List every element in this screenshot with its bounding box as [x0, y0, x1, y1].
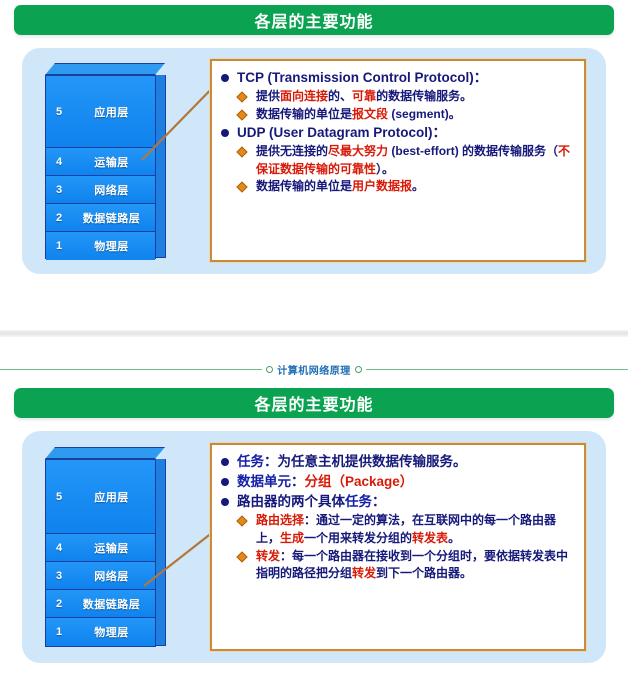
text-run: 可靠 — [352, 89, 376, 103]
layer-number: 1 — [46, 626, 72, 638]
layer-number: 3 — [46, 184, 72, 196]
layer-row-2[interactable]: 2 数据链路层 — [46, 590, 155, 618]
section-2-bullet-list: 任务：为任意主机提供数据传输服务。 数据单元：分组（Package） 路由器的两… — [220, 452, 574, 583]
sub-bullet-tcp-1: 提供面向连接的、可靠的数据传输服务。 — [236, 88, 574, 106]
section-1-content-box: TCP (Transmission Control Protocol)： 提供面… — [210, 59, 586, 262]
bullet-text: UDP (User Datagram Protocol)： — [237, 125, 446, 140]
text-run: TCP (Transmission Control Protocol)： — [237, 70, 487, 85]
text-run: 数据单元 — [237, 474, 291, 489]
text-run: 任务 — [237, 454, 264, 469]
stack-front-face: 5 应用层 4 运输层 3 网络层 2 数据链路层 1 物理层 — [45, 75, 156, 259]
stack-side-face — [155, 75, 166, 258]
text-run: 报文段 — [352, 107, 388, 121]
text-run: ）。 — [376, 162, 394, 176]
layer-number: 5 — [46, 106, 72, 118]
bullet-dot-icon — [221, 498, 229, 506]
text-run: 的、 — [328, 89, 352, 103]
text-run: 任务 — [345, 494, 372, 509]
text-run: 一个用来转发分组的 — [304, 531, 412, 545]
section-1-title: 各层的主要功能 — [254, 8, 373, 32]
text-run: 。 — [448, 531, 460, 545]
text-run: 数据传输的单位是 — [256, 107, 352, 121]
text-run: 路由选择 — [256, 513, 304, 527]
sub-bullet-forwarding: 转发：每一个路由器在接收到一个分组时，要依据转发表中指明的路径把分组转发到下一个… — [236, 548, 574, 583]
sub-bullet-text: 数据传输的单位是报文段 (segment)。 — [256, 107, 461, 121]
layer-number: 4 — [46, 156, 72, 168]
layer-row-5[interactable]: 5 应用层 — [46, 460, 155, 534]
section-2-panel: 5 应用层 4 运输层 3 网络层 2 数据链路层 1 物理层 — [22, 431, 606, 663]
text-run: ： — [372, 494, 386, 509]
bullet-data-unit: 数据单元：分组（Package） — [220, 472, 574, 491]
section-1-banner: 各层的主要功能 — [14, 5, 614, 35]
layer-row-2[interactable]: 2 数据链路层 — [46, 204, 155, 232]
stack-top-face — [45, 63, 165, 75]
stack-top-face — [45, 447, 165, 459]
text-run: ：为任意主机提供数据传输服务。 — [264, 454, 467, 469]
layer-label: 网络层 — [72, 182, 155, 198]
text-run: 用户数据报 — [352, 179, 412, 193]
text-run: UDP (User Datagram Protocol)： — [237, 125, 446, 140]
layer-label: 网络层 — [72, 568, 155, 584]
bullet-task: 任务：为任意主机提供数据传输服务。 — [220, 452, 574, 471]
text-run: 转发 — [352, 566, 376, 580]
section-1-panel: 5 应用层 4 运输层 3 网络层 2 数据链路层 1 物理层 — [22, 48, 606, 274]
layer-row-3[interactable]: 3 网络层 — [46, 176, 155, 204]
layer-row-3[interactable]: 3 网络层 — [46, 562, 155, 590]
sub-bullet-text: 提供无连接的尽最大努力 (best-effort) 的数据传输服务（不保证数据传… — [256, 144, 570, 176]
bullet-text: 任务：为任意主机提供数据传输服务。 — [237, 454, 467, 469]
layer-number: 5 — [46, 491, 72, 503]
text-run: 路由器的两个具体 — [237, 494, 345, 509]
text-run: 生成 — [280, 531, 304, 545]
layer-number: 2 — [46, 212, 72, 224]
layer-label: 数据链路层 — [72, 210, 155, 226]
section-2-banner: 各层的主要功能 — [14, 388, 614, 418]
sub-bullet-tcp-2: 数据传输的单位是报文段 (segment)。 — [236, 106, 574, 124]
sub-bullet-text: 数据传输的单位是用户数据报。 — [256, 179, 424, 193]
sub-bullet-text: 提供面向连接的、可靠的数据传输服务。 — [256, 89, 472, 103]
stack-front-face: 5 应用层 4 运输层 3 网络层 2 数据链路层 1 物理层 — [45, 459, 156, 647]
text-run: 。 — [412, 179, 424, 193]
layer-row-1[interactable]: 1 物理层 — [46, 618, 155, 646]
text-run: 的数据传输服务。 — [376, 89, 472, 103]
text-run: ： — [291, 474, 305, 489]
divider-circle-left-icon — [266, 366, 273, 373]
divider: 计算机网络原理 — [0, 361, 628, 377]
divider-circle-right-icon — [355, 366, 362, 373]
text-run: 转发表 — [412, 531, 448, 545]
diamond-bullet-icon — [236, 147, 247, 158]
text-run: 面向连接 — [280, 89, 328, 103]
divider-rule-left — [0, 369, 262, 370]
bullet-router-tasks: 路由器的两个具体任务： — [220, 492, 574, 511]
diamond-bullet-icon — [236, 109, 247, 120]
slide-page: 各层的主要功能 5 应用层 4 运输层 3 网络层 2 — [0, 0, 628, 676]
text-run: 提供无连接的 — [256, 144, 328, 158]
text-run: 转发 — [256, 549, 280, 563]
layer-label: 运输层 — [72, 540, 155, 556]
layer-row-1[interactable]: 1 物理层 — [46, 232, 155, 260]
section-2-content-box: 任务：为任意主机提供数据传输服务。 数据单元：分组（Package） 路由器的两… — [210, 443, 586, 651]
layer-label: 应用层 — [72, 104, 155, 120]
divider-rule-right — [366, 369, 628, 370]
layer-number: 2 — [46, 598, 72, 610]
stack-side-face — [155, 459, 166, 646]
bullet-dot-icon — [221, 458, 229, 466]
diamond-bullet-icon — [236, 182, 247, 193]
bullet-dot-icon — [221, 129, 229, 137]
bullet-tcp: TCP (Transmission Control Protocol)： — [220, 68, 574, 87]
divider-label: 计算机网络原理 — [277, 362, 351, 377]
layer-label: 数据链路层 — [72, 596, 155, 612]
text-run: (segment)。 — [388, 107, 461, 121]
text-run: 尽最大努力 — [328, 144, 388, 158]
section-1-bullet-list: TCP (Transmission Control Protocol)： 提供面… — [220, 68, 574, 196]
text-run: (best-effort) 的数据传输服务（ — [388, 144, 558, 158]
layer-number: 3 — [46, 570, 72, 582]
bullet-text: 路由器的两个具体任务： — [237, 494, 386, 509]
layer-label: 运输层 — [72, 154, 155, 170]
diamond-bullet-icon — [236, 516, 247, 527]
sub-bullet-udp-2: 数据传输的单位是用户数据报。 — [236, 178, 574, 196]
text-run: 数据传输的单位是 — [256, 179, 352, 193]
layer-row-4[interactable]: 4 运输层 — [46, 148, 155, 176]
section-1-layer-stack: 5 应用层 4 运输层 3 网络层 2 数据链路层 1 物理层 — [45, 63, 167, 259]
bullet-dot-icon — [221, 478, 229, 486]
text-run: 到下一个路由器。 — [376, 566, 472, 580]
layer-number: 1 — [46, 240, 72, 252]
text-run: 分组（Package） — [305, 474, 414, 489]
text-run: 提供 — [256, 89, 280, 103]
layer-row-5[interactable]: 5 应用层 — [46, 76, 155, 148]
diamond-bullet-icon — [236, 91, 247, 102]
bullet-text: 数据单元：分组（Package） — [237, 474, 413, 489]
sub-bullet-text: 转发：每一个路由器在接收到一个分组时，要依据转发表中指明的路径把分组转发到下一个… — [256, 549, 568, 581]
section-2-layer-stack: 5 应用层 4 运输层 3 网络层 2 数据链路层 1 物理层 — [45, 447, 167, 647]
bullet-udp: UDP (User Datagram Protocol)： — [220, 123, 574, 142]
layer-label: 物理层 — [72, 238, 155, 254]
separator-band — [0, 330, 628, 337]
section-2-title: 各层的主要功能 — [254, 391, 373, 415]
sub-bullet-text: 路由选择：通过一定的算法，在互联网中的每一个路由器上，生成一个用来转发分组的转发… — [256, 513, 556, 545]
sub-bullet-udp-1: 提供无连接的尽最大努力 (best-effort) 的数据传输服务（不保证数据传… — [236, 143, 574, 178]
layer-label: 应用层 — [72, 489, 155, 505]
layer-label: 物理层 — [72, 624, 155, 640]
sub-bullet-routing: 路由选择：通过一定的算法，在互联网中的每一个路由器上，生成一个用来转发分组的转发… — [236, 512, 574, 547]
layer-row-4[interactable]: 4 运输层 — [46, 534, 155, 562]
bullet-text: TCP (Transmission Control Protocol)： — [237, 70, 487, 85]
layer-number: 4 — [46, 542, 72, 554]
bullet-dot-icon — [221, 74, 229, 82]
diamond-bullet-icon — [236, 551, 247, 562]
